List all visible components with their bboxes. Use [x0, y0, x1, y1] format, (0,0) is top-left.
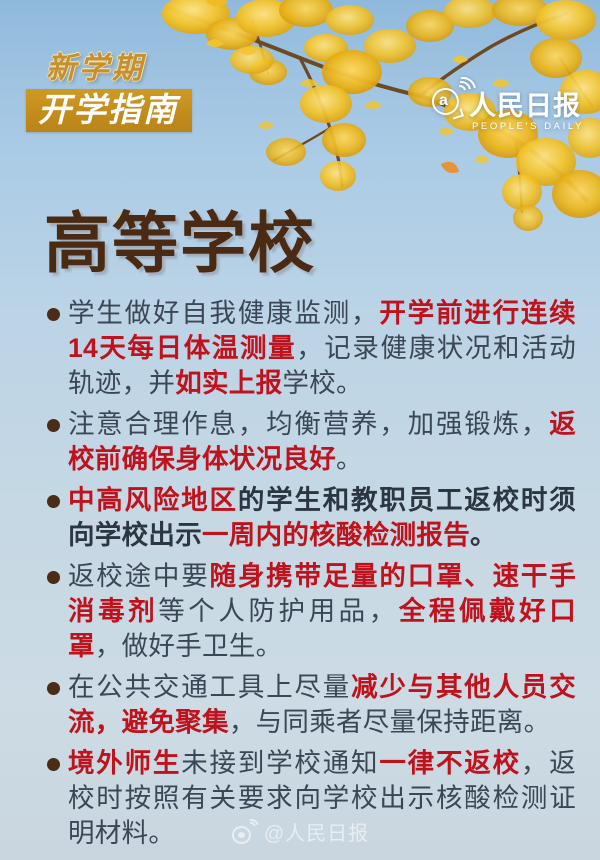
weibo-icon — [231, 822, 257, 846]
body-text: 。 — [470, 520, 497, 550]
badge-subtitle: 新学期 — [26, 52, 192, 86]
page-title: 高等学校 — [44, 206, 316, 280]
bullet-health-monitoring: 学生做好自我健康监测，开学前进行连续14天每日体温测量，记录健康状况和活动轨迹，… — [68, 296, 576, 401]
list-item: 返校途中要随身携带足量的口罩、速干手消毒剂等个人防护用品，全程佩戴好口罩，做好手… — [46, 559, 576, 664]
at-sign-wifi-icon: a — [432, 86, 466, 120]
body-text: 。 — [336, 444, 363, 474]
bullet-dot-icon — [47, 419, 60, 432]
emphasis-text: 如实上报 — [175, 368, 282, 398]
body-text: 学生做好自我健康监测， — [68, 298, 379, 328]
bullet-dot-icon — [47, 758, 60, 771]
at-letter: a — [439, 94, 448, 108]
bullet-rest-nutrition-exercise: 注意合理作息，均衡营养，加强锻炼，返校前确保身体状况良好。 — [68, 407, 576, 477]
bullet-dot-icon — [47, 682, 60, 695]
emphasis-text: 境外师生 — [68, 748, 181, 778]
body-text: 等个人防护用品， — [158, 596, 399, 626]
list-item: 注意合理作息，均衡营养，加强锻炼，返校前确保身体状况良好。 — [46, 407, 576, 477]
emphasis-text: 一周内的核酸检测报告 — [202, 520, 470, 550]
bullet-public-transport-distance: 在公共交通工具上尽量减少与其他人员交流，避免聚集，与同乘者尽量保持距离。 — [68, 670, 576, 740]
guideline-list: 学生做好自我健康监测，开学前进行连续14天每日体温测量，记录健康状况和活动轨迹，… — [46, 296, 576, 857]
peoples-daily-logo: a 人民日报 PEOPLE'S DAILY — [432, 86, 584, 132]
bullet-risk-area-nucleic-acid-report: 中高风险地区的学生和教职员工返校时须向学校出示一周内的核酸检测报告。 — [68, 483, 576, 553]
logo-name: 人民日报 — [469, 92, 581, 120]
campaign-badge: 新学期 开学指南 — [26, 52, 192, 132]
bullet-dot-icon — [47, 495, 60, 508]
footer-handle: @人民日报 — [264, 823, 369, 845]
emphasis-text: 一律不返校 — [379, 748, 521, 778]
list-item: 学生做好自我健康监测，开学前进行连续14天每日体温测量，记录健康状况和活动轨迹，… — [46, 296, 576, 401]
badge-title-banner: 开学指南 — [26, 89, 192, 132]
body-text: 注意合理作息，均衡营养，加强锻炼， — [68, 409, 549, 439]
body-text: 未接到学校通知 — [181, 748, 379, 778]
poster-root: 新学期 开学指南 a 人民日报 PEOPLE'S DAILY 高等学校 学生做好… — [0, 0, 600, 860]
body-text: 返校途中要 — [68, 561, 210, 591]
bullet-carry-protective-supplies: 返校途中要随身携带足量的口罩、速干手消毒剂等个人防护用品，全程佩戴好口罩，做好手… — [68, 559, 576, 664]
emphasis-text: 中高风险地区 — [68, 485, 238, 515]
list-item: 中高风险地区的学生和教职员工返校时须向学校出示一周内的核酸检测报告。 — [46, 483, 576, 553]
body-text: ，做好手卫生。 — [95, 631, 283, 661]
bullet-dot-icon — [47, 571, 60, 584]
body-text: ，与同乘者尽量保持距离。 — [229, 707, 551, 737]
body-text: 在公共交通工具上尽量 — [68, 672, 351, 702]
body-text: 学校。 — [282, 368, 362, 398]
list-item: 在公共交通工具上尽量减少与其他人员交流，避免聚集，与同乘者尽量保持距离。 — [46, 670, 576, 740]
bullet-dot-icon — [47, 308, 60, 321]
footer-watermark: @人民日报 — [0, 822, 600, 846]
logo-subtitle: PEOPLE'S DAILY — [472, 121, 584, 132]
